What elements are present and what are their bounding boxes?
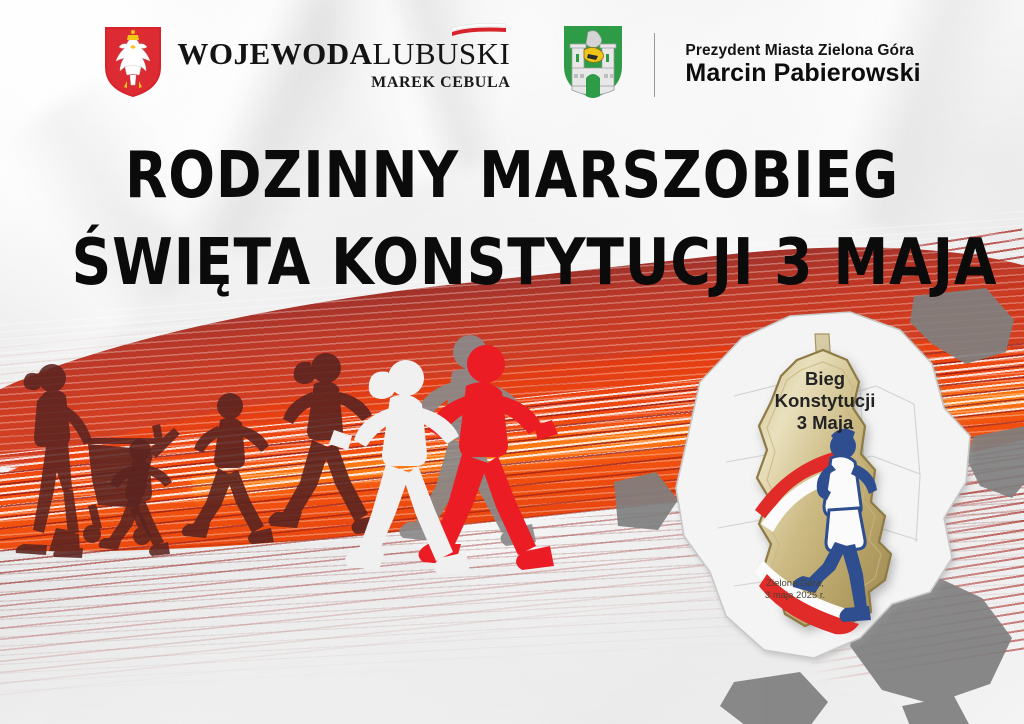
mayor-office-title: Prezydent Miasta Zielona Góra (685, 42, 920, 60)
voivode-person-name: MAREK CEBULA (371, 74, 510, 92)
page-title: RODZINNY MARSZOBIEG (72, 145, 953, 208)
logo-divider (654, 33, 655, 97)
poster-title-block: RODZINNY MARSZOBIEG ŚWIĘTA KONSTYTUCJI 3… (0, 145, 1024, 294)
poster-canvas: Bieg Konstytucji 3 Maja Zielona Góra, 3 … (0, 0, 1024, 724)
mayor-person-name: Marcin Pabierowski (685, 60, 920, 88)
voivode-text-block: WOJEWODALUBUSKI MAREK CEBULA (177, 38, 510, 92)
page-subtitle: ŚWIĘTA KONSTYTUCJI 3 MAJA (72, 232, 953, 295)
voivode-logo-block: WOJEWODALUBUSKI MAREK CEBULA (103, 25, 510, 104)
zielona-gora-coat-of-arms-icon (562, 24, 624, 105)
polish-flag-swoosh-icon (450, 22, 508, 43)
foreground-runner-group (0, 330, 760, 630)
polish-eagle-coat-of-arms-icon (103, 25, 163, 104)
voivode-office-word-1: WOJEWODA (177, 36, 372, 71)
mayor-text-block: Prezydent Miasta Zielona Góra Marcin Pab… (685, 42, 920, 88)
white-woman-runner-silhouette (329, 360, 470, 575)
mayor-logo-block: Prezydent Miasta Zielona Góra Marcin Pab… (562, 24, 920, 105)
header-logo-bar: WOJEWODALUBUSKI MAREK CEBULA (0, 24, 1024, 105)
